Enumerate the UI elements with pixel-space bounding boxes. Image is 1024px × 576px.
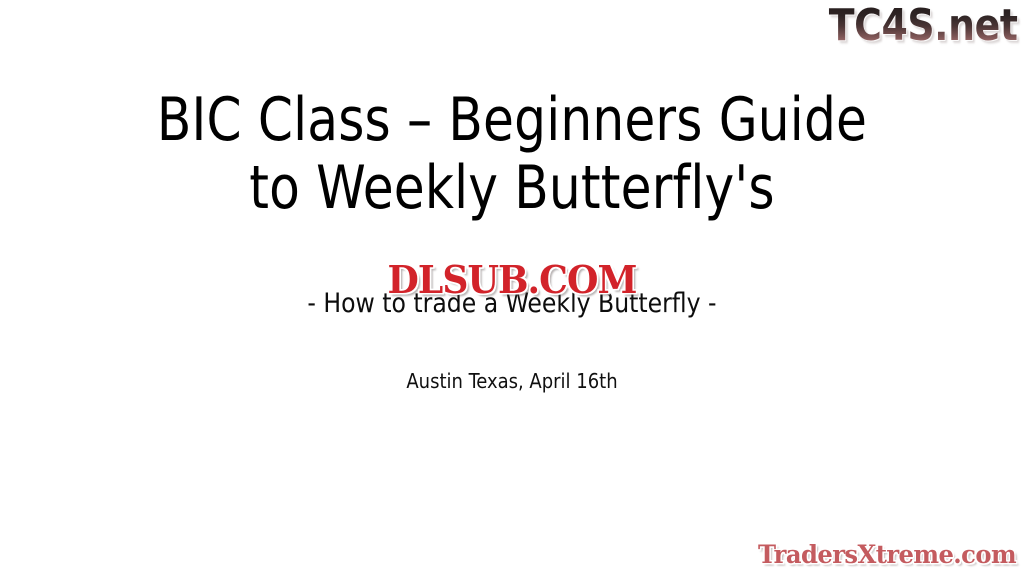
date-location-text: Austin Texas, April 16th (0, 368, 1024, 394)
tc4s-logo: TC4S.net (829, 2, 1018, 50)
date-location: Austin Texas, April 16th (0, 368, 1024, 394)
presentation-slide: TC4S.net BIC Class – Beginners Guide to … (0, 0, 1024, 576)
page-title: BIC Class – Beginners Guide to Weekly Bu… (0, 86, 1024, 222)
title-line-1: BIC Class – Beginners Guide (36, 86, 988, 154)
dlsub-watermark: DLSUB.COM (388, 259, 637, 301)
tradersxtreme-watermark: TradersXtreme.com (758, 540, 1016, 570)
title-line-2: to Weekly Butterfly's (36, 154, 988, 222)
